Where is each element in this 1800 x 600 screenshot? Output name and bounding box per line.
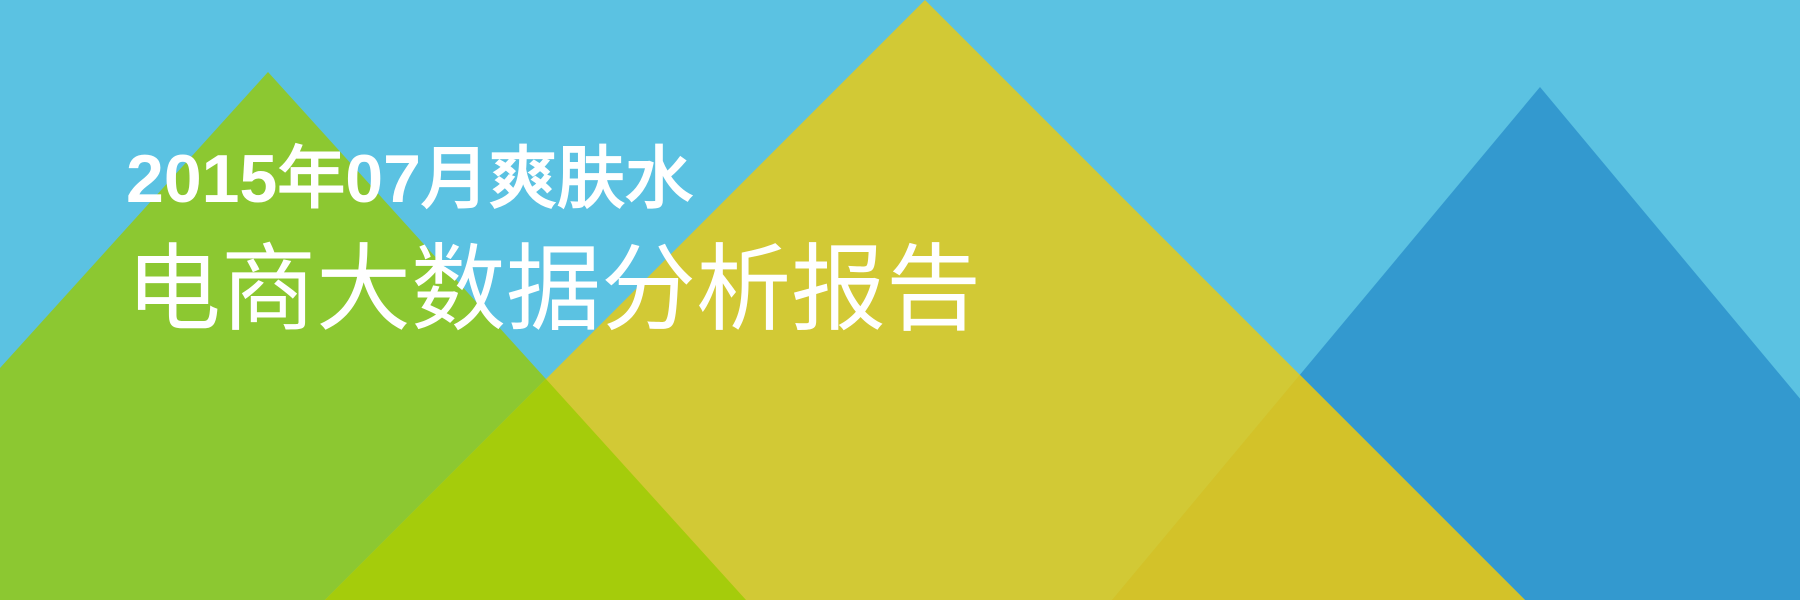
report-cover-banner: 2015年07月爽肤水 电商大数据分析报告 — [0, 0, 1800, 600]
background-graphic — [0, 0, 1800, 600]
